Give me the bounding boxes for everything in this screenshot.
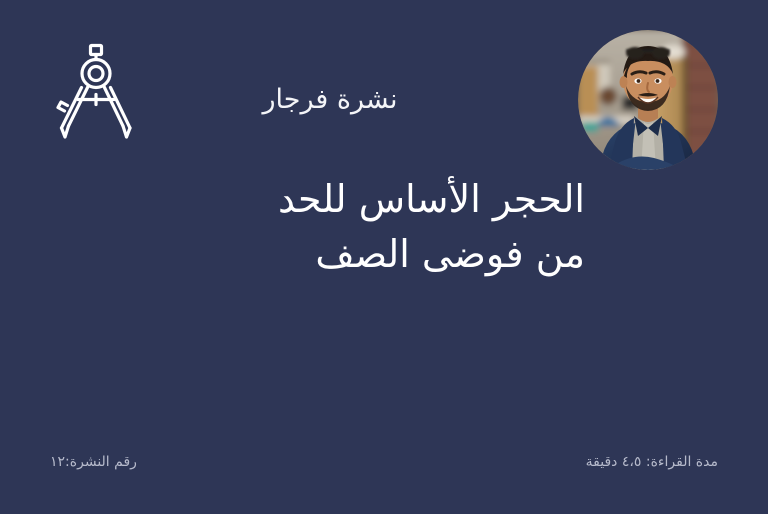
page-title: الحجر الأساس للحد من فوضى الصف	[181, 172, 585, 282]
reading-time-label: مدة القراءة: ٤،٥ دقيقة	[586, 452, 718, 472]
newsletter-cover: نشرة فرجار الحجر الأساس للحد من فوضى الص…	[0, 0, 768, 514]
issue-number-label: رقم النشرة:١٢	[50, 452, 137, 472]
brand-name: نشرة فرجار	[210, 82, 450, 118]
headline-line-1: الحجر الأساس للحد	[181, 172, 585, 227]
headline-line-2: من فوضى الصف	[181, 227, 585, 282]
avatar	[578, 30, 718, 170]
compass-icon	[48, 42, 144, 146]
